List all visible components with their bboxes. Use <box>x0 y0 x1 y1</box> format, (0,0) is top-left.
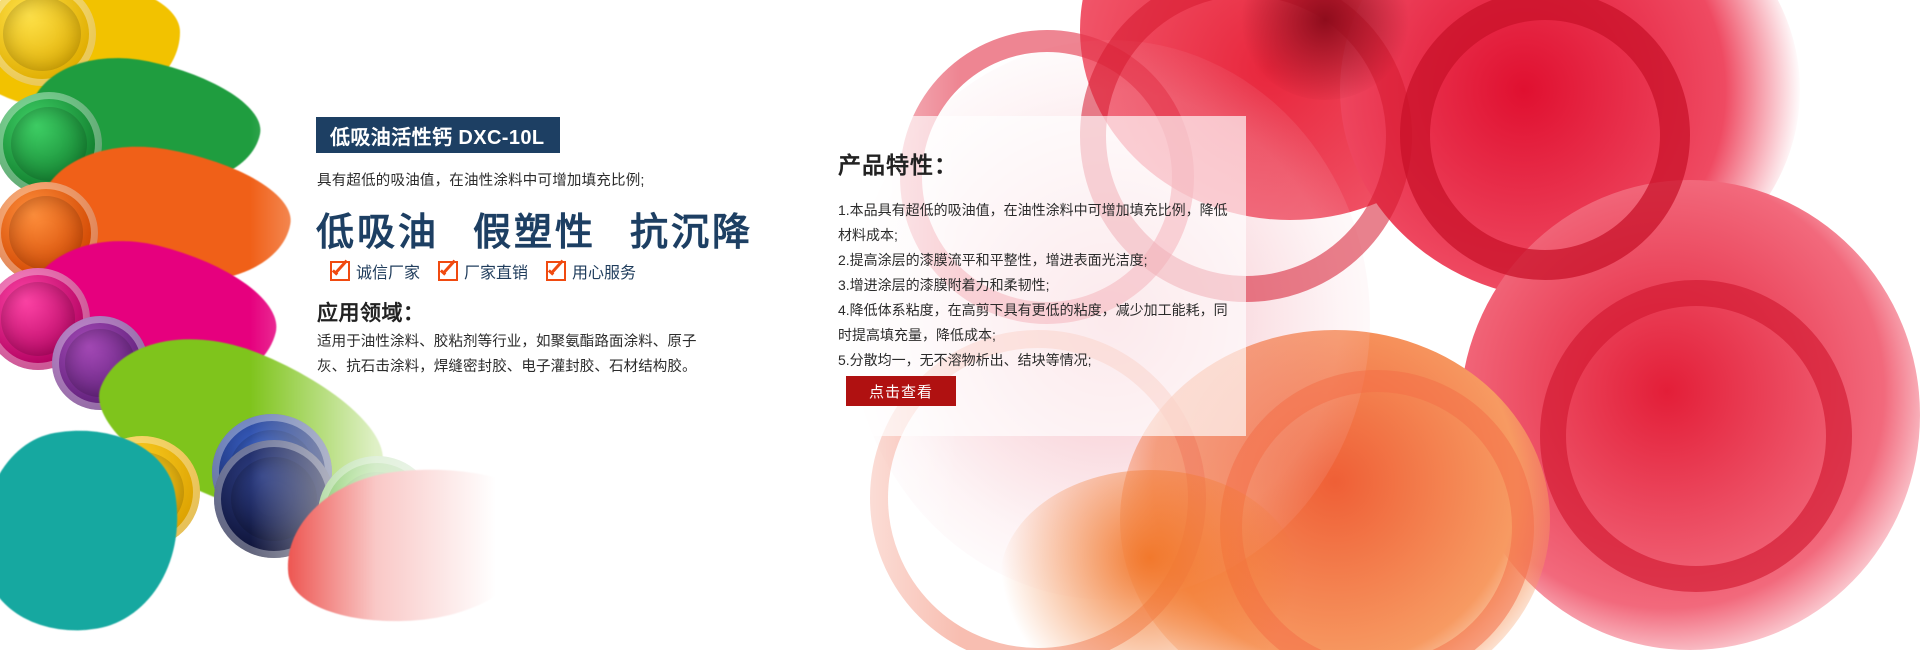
headline-keyword-3: 抗沉降 <box>630 201 753 256</box>
trust-badge-list: 诚信厂家 厂家直销 用心服务 <box>330 259 636 283</box>
product-title-badge: 低吸油活性钙 DXC-10L <box>316 117 560 153</box>
feature-item-4: 4.降低体系粘度，在高剪下具有更低的粘度，减少加工能耗，同时提高填充量，降低成本… <box>838 298 1228 348</box>
trust-badge-3: 用心服务 <box>546 259 636 283</box>
headline-keywords: 低吸油 假塑性 抗沉降 <box>316 201 753 256</box>
checkbox-checked-icon <box>438 261 458 281</box>
paint-ring-4 <box>1540 280 1852 592</box>
center-content: 低吸油活性钙 DXC-10L 具有超低的吸油值，在油性涂料中可增加填充比例; 低… <box>0 0 760 650</box>
checkbox-checked-icon <box>330 261 350 281</box>
application-description: 适用于油性涂料、胶粘剂等行业，如聚氨酯路面涂料、原子灰、抗石击涂料，焊缝密封胶、… <box>317 330 717 380</box>
product-subtitle: 具有超低的吸油值，在油性涂料中可增加填充比例; <box>317 169 645 190</box>
checkbox-checked-icon <box>546 261 566 281</box>
feature-item-1: 1.本品具有超低的吸油值，在油性涂料中可增加填充比例，降低材料成本; <box>838 198 1228 248</box>
application-section-title: 应用领域： <box>317 297 425 327</box>
feature-item-5: 5.分散均一，无不溶物析出、结块等情况; <box>838 348 1228 373</box>
trust-badge-2-label: 厂家直销 <box>464 259 528 283</box>
product-title-text: 低吸油活性钙 DXC-10L <box>330 121 545 150</box>
trust-badge-2: 厂家直销 <box>438 259 528 283</box>
features-panel-title: 产品特性： <box>838 146 958 180</box>
trust-badge-1: 诚信厂家 <box>330 259 420 283</box>
features-list: 1.本品具有超低的吸油值，在油性涂料中可增加填充比例，降低材料成本; 2.提高涂… <box>838 198 1228 373</box>
feature-item-3: 3.增进涂层的漆膜附着力和柔韧性; <box>838 273 1228 298</box>
paint-ring-3 <box>1400 0 1690 280</box>
view-details-button[interactable]: 点击查看 <box>846 376 956 406</box>
trust-badge-1-label: 诚信厂家 <box>356 259 420 283</box>
headline-keyword-1: 低吸油 <box>316 201 439 256</box>
feature-item-2: 2.提高涂层的漆膜流平和平整性，增进表面光洁度; <box>838 248 1228 273</box>
trust-badge-3-label: 用心服务 <box>572 259 636 283</box>
product-banner: 低吸油活性钙 DXC-10L 具有超低的吸油值，在油性涂料中可增加填充比例; 低… <box>0 0 1920 650</box>
headline-keyword-2: 假塑性 <box>473 201 596 256</box>
